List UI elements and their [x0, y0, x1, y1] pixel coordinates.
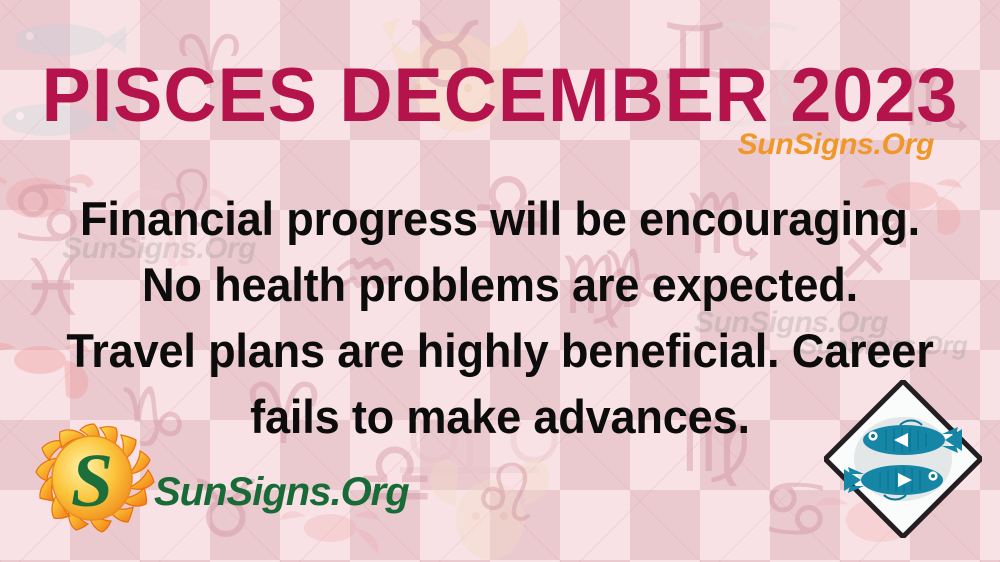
zodiac-glyph: ♌: [470, 454, 542, 534]
zodiac-glyph: ♋: [760, 470, 832, 550]
page-title: PISCES DECEMBER 2023: [15, 58, 985, 134]
pisces-sign-badge: [824, 380, 982, 538]
horoscope-line-1: Financial progress will be encouraging.: [41, 186, 959, 252]
sun-logo-icon: S: [32, 418, 156, 536]
horoscope-line-2: No health problems are expected.: [41, 252, 959, 318]
horoscope-banner: ♈♉♊♋♌♎♏♐♑♒♓♍♈♑♎♍♌♏♋♉ SunSigns.OrgSunSign…: [0, 0, 1000, 562]
brand-label-top: SunSigns.Org: [738, 130, 934, 160]
site-logo[interactable]: S SunSigns.Org: [32, 414, 362, 540]
logo-letter-s: S: [71, 439, 113, 523]
horoscope-line-3: Travel plans are highly beneficial. Care…: [41, 318, 959, 384]
brand-label-footer: SunSigns.Org: [154, 472, 409, 512]
